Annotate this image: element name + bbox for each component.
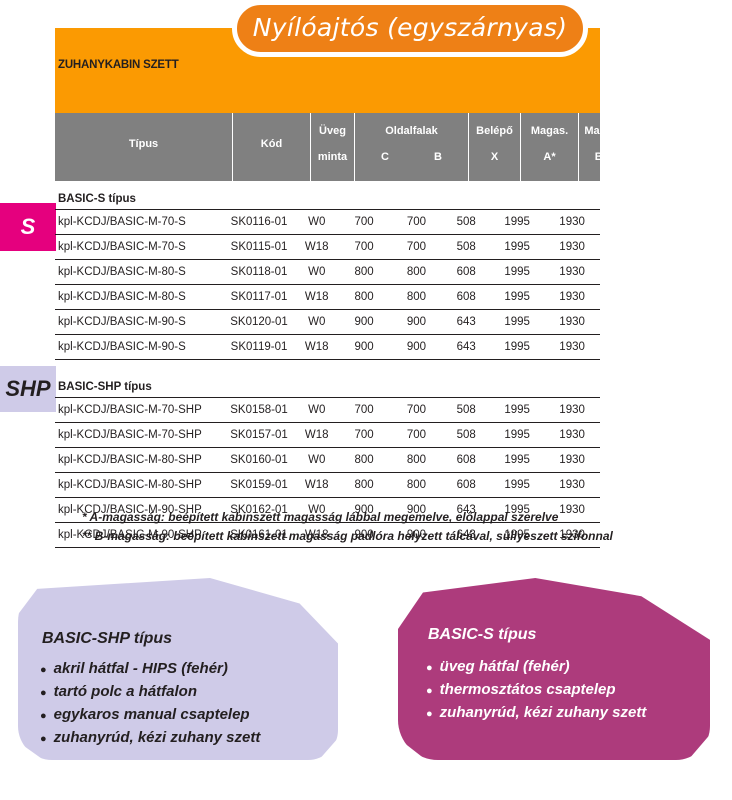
cell-type: kpl-KCDJ/BASIC-M-90-S [55, 310, 222, 335]
cell-type: kpl-KCDJ/BASIC-M-80-SHP [55, 448, 222, 473]
cell-type: kpl-KCDJ/BASIC-M-80-S [55, 285, 222, 310]
section-gap [55, 360, 600, 377]
list-item: akril hátfal - HIPS (fehér) [40, 658, 260, 681]
list-item: üveg hátfal (fehér) [426, 656, 646, 679]
col-header-height-b: Magas. B** [578, 113, 600, 181]
cell-bb: 1930 [544, 285, 600, 310]
cell-x: 643 [442, 335, 490, 360]
cell-glass: W18 [296, 423, 338, 448]
cell-x: 508 [442, 235, 490, 260]
cell-a: 1995 [490, 398, 544, 423]
table-row: kpl-KCDJ/BASIC-M-80-S SK0117-01 W18 800 … [55, 285, 600, 310]
cell-type: kpl-KCDJ/BASIC-M-70-S [55, 210, 222, 235]
cell-code: SK0119-01 [222, 335, 296, 360]
cell-a: 1995 [490, 285, 544, 310]
cell-b: 700 [391, 235, 442, 260]
cell-c: 800 [337, 285, 390, 310]
cell-code: SK0120-01 [222, 310, 296, 335]
cell-type: kpl-KCDJ/BASIC-M-70-SHP [55, 398, 222, 423]
cell-c: 700 [337, 210, 390, 235]
cell-glass: W0 [296, 448, 338, 473]
cell-a: 1995 [490, 473, 544, 498]
section-title: BASIC-S típus [55, 188, 600, 210]
cell-type: kpl-KCDJ/BASIC-M-90-S [55, 335, 222, 360]
cell-glass: W18 [296, 235, 338, 260]
cell-x: 608 [442, 473, 490, 498]
cell-b: 700 [391, 398, 442, 423]
cell-b: 700 [391, 423, 442, 448]
section-badge-s: S [0, 203, 56, 251]
callout-title: BASIC-S típus [428, 626, 536, 644]
cell-glass: W18 [296, 473, 338, 498]
col-header-height-a: Magas. A* [520, 113, 578, 181]
cell-code: SK0158-01 [222, 398, 296, 423]
banner-label: ZUHANYKABIN SZETT [58, 59, 179, 71]
cell-a: 1995 [490, 448, 544, 473]
cell-c: 900 [337, 335, 390, 360]
cell-glass: W0 [296, 260, 338, 285]
title-pill: Nyílóajtós (egyszárnyas) [232, 0, 588, 57]
cell-b: 800 [391, 473, 442, 498]
section-title-row: BASIC-S típus [55, 188, 600, 210]
cell-c: 700 [337, 398, 390, 423]
col-header-type: Típus [55, 113, 232, 181]
cell-a: 1995 [490, 310, 544, 335]
cell-bb: 1930 [544, 423, 600, 448]
cell-glass: W18 [296, 335, 338, 360]
section-badge-shp: SHP [0, 366, 56, 412]
cell-type: kpl-KCDJ/BASIC-M-80-SHP [55, 473, 222, 498]
callout-feature-list: akril hátfal - HIPS (fehér) tartó polc a… [40, 658, 260, 750]
section-title: BASIC-SHP típus [55, 376, 600, 398]
cell-bb: 1930 [544, 335, 600, 360]
cell-bb: 1930 [544, 260, 600, 285]
cell-bb: 1930 [544, 473, 600, 498]
cell-b: 800 [391, 260, 442, 285]
footnote-b: ** B-magasság: beépített kabinszett maga… [82, 527, 722, 546]
cell-type: kpl-KCDJ/BASIC-M-70-SHP [55, 423, 222, 448]
list-item: tartó polc a hátfalon [40, 681, 260, 704]
cell-a: 1995 [490, 260, 544, 285]
cell-x: 608 [442, 260, 490, 285]
table-row: kpl-KCDJ/BASIC-M-70-SHP SK0158-01 W0 700… [55, 398, 600, 423]
cell-type: kpl-KCDJ/BASIC-M-80-S [55, 260, 222, 285]
callout-feature-list: üveg hátfal (fehér) thermosztátos csapte… [426, 656, 646, 725]
table-row: kpl-KCDJ/BASIC-M-90-S SK0120-01 W0 900 9… [55, 310, 600, 335]
cell-c: 900 [337, 310, 390, 335]
col-header-entry: Belépő X [468, 113, 520, 181]
list-item: zuhanyrúd, kézi zuhany szett [426, 702, 646, 725]
table-header-row: Típus Kód Üveg minta Oldalfalak C B Belé… [55, 113, 600, 181]
cell-glass: W18 [296, 285, 338, 310]
cell-c: 800 [337, 260, 390, 285]
cell-type: kpl-KCDJ/BASIC-M-70-S [55, 235, 222, 260]
cell-glass: W0 [296, 398, 338, 423]
col-header-walls: Oldalfalak C B [354, 113, 468, 181]
cell-a: 1995 [490, 423, 544, 448]
table-row: kpl-KCDJ/BASIC-M-80-SHP SK0159-01 W18 80… [55, 473, 600, 498]
cell-c: 700 [337, 235, 390, 260]
cell-x: 508 [442, 423, 490, 448]
cell-bb: 1930 [544, 235, 600, 260]
cell-code: SK0157-01 [222, 423, 296, 448]
cell-a: 1995 [490, 210, 544, 235]
cell-c: 800 [337, 473, 390, 498]
table-row: kpl-KCDJ/BASIC-M-70-S SK0116-01 W0 700 7… [55, 210, 600, 235]
list-item: egykaros manual csaptelep [40, 704, 260, 727]
table-row: kpl-KCDJ/BASIC-M-80-SHP SK0160-01 W0 800… [55, 448, 600, 473]
cell-a: 1995 [490, 235, 544, 260]
table-row: kpl-KCDJ/BASIC-M-70-S SK0115-01 W18 700 … [55, 235, 600, 260]
cell-c: 700 [337, 423, 390, 448]
section-title-row: BASIC-SHP típus [55, 376, 600, 398]
callout-basic-shp: BASIC-SHP típus akril hátfal - HIPS (feh… [18, 578, 338, 760]
cell-x: 508 [442, 210, 490, 235]
cell-b: 800 [391, 285, 442, 310]
cell-bb: 1930 [544, 448, 600, 473]
footnotes: * A-magasság: beépített kabinszett magas… [82, 508, 722, 546]
list-item: thermosztátos csaptelep [426, 679, 646, 702]
cell-code: SK0116-01 [222, 210, 296, 235]
title-pill-label: Nyílóajtós (egyszárnyas) [253, 13, 568, 42]
table-row: kpl-KCDJ/BASIC-M-80-S SK0118-01 W0 800 8… [55, 260, 600, 285]
col-header-glass: Üveg minta [310, 113, 354, 181]
cell-code: SK0159-01 [222, 473, 296, 498]
cell-x: 608 [442, 448, 490, 473]
table-body: BASIC-S típus kpl-KCDJ/BASIC-M-70-S SK01… [55, 188, 600, 548]
cell-bb: 1930 [544, 310, 600, 335]
cell-c: 800 [337, 448, 390, 473]
list-item: zuhanyrúd, kézi zuhany szett [40, 727, 260, 750]
cell-code: SK0118-01 [222, 260, 296, 285]
table-row: kpl-KCDJ/BASIC-M-70-SHP SK0157-01 W18 70… [55, 423, 600, 448]
cell-bb: 1930 [544, 210, 600, 235]
cell-b: 900 [391, 335, 442, 360]
cell-a: 1995 [490, 335, 544, 360]
cell-glass: W0 [296, 210, 338, 235]
cell-bb: 1930 [544, 398, 600, 423]
cell-code: SK0160-01 [222, 448, 296, 473]
cell-x: 643 [442, 310, 490, 335]
cell-glass: W0 [296, 310, 338, 335]
cell-b: 700 [391, 210, 442, 235]
table-row: kpl-KCDJ/BASIC-M-90-S SK0119-01 W18 900 … [55, 335, 600, 360]
cell-code: SK0115-01 [222, 235, 296, 260]
callout-title: BASIC-SHP típus [42, 630, 172, 648]
cell-b: 800 [391, 448, 442, 473]
cell-x: 608 [442, 285, 490, 310]
callout-basic-s: BASIC-S típus üveg hátfal (fehér) thermo… [398, 578, 710, 760]
col-header-code: Kód [232, 113, 310, 181]
product-table: BASIC-S típus kpl-KCDJ/BASIC-M-70-S SK01… [55, 188, 600, 548]
cell-code: SK0117-01 [222, 285, 296, 310]
cell-b: 900 [391, 310, 442, 335]
cell-x: 508 [442, 398, 490, 423]
footnote-a: * A-magasság: beépített kabinszett magas… [82, 508, 722, 527]
